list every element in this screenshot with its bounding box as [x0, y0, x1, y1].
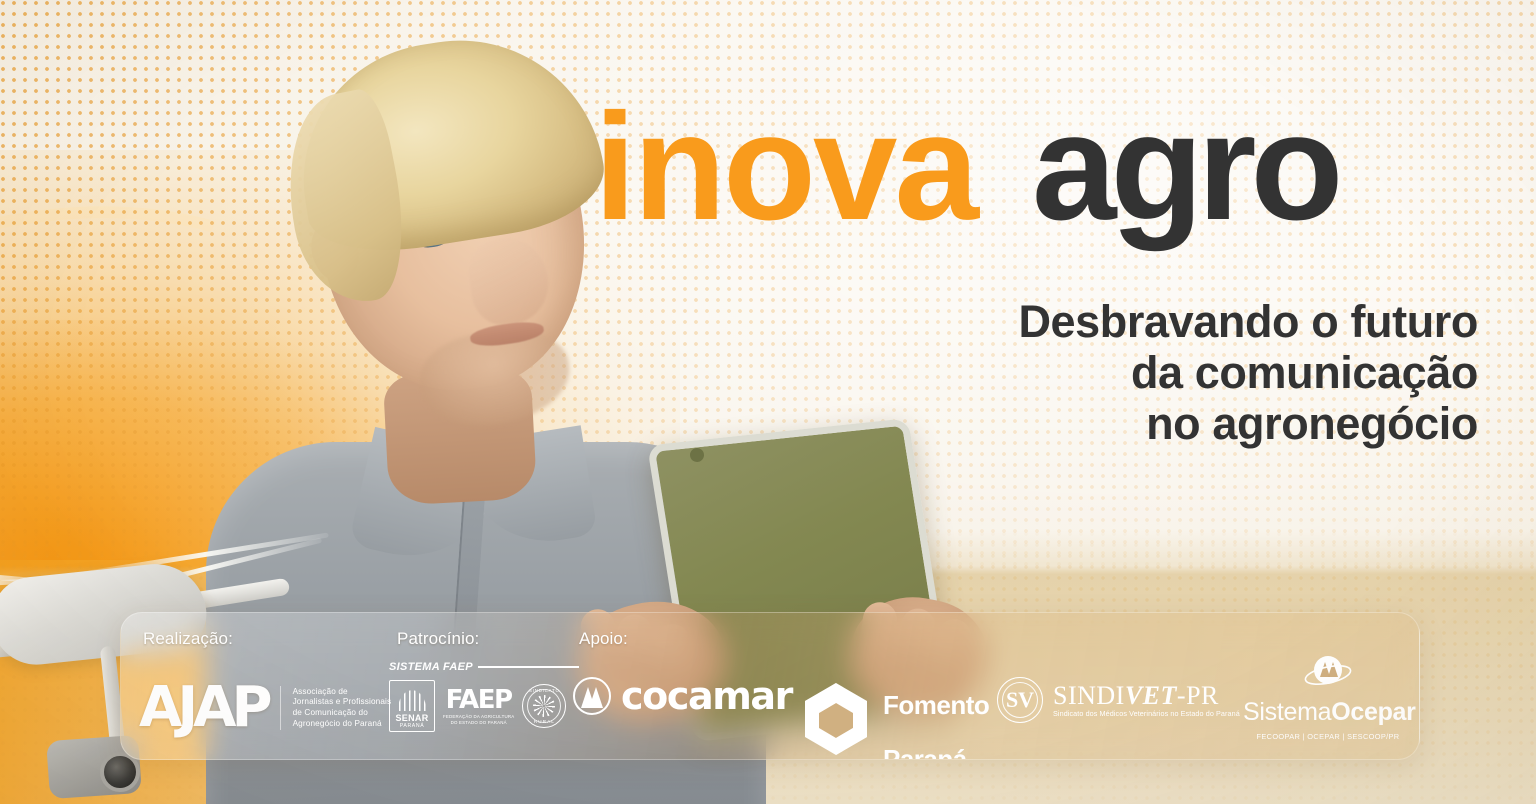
- sindicato-bottom-text: RURAL: [534, 720, 555, 725]
- senar-fan-icon: [394, 685, 430, 711]
- tagline-line-3: no agronegócio: [778, 398, 1478, 449]
- sindivet-subtitle: Sindicato dos Médicos Veterinários no Es…: [1053, 709, 1240, 718]
- faep-wordmark: FAEP: [446, 687, 512, 713]
- faep-title-row: SISTEMA FAEP: [389, 661, 579, 673]
- ajap-wordmark: AJAP: [139, 680, 268, 736]
- sindicato-top-text: SINDICATO: [529, 688, 560, 693]
- sindivet-seal-icon: SV: [997, 677, 1043, 723]
- sindivet-part-3: -PR: [1177, 681, 1219, 710]
- event-logotype: inovaagro: [594, 92, 1494, 242]
- ocepar-symbol-icon: [1304, 680, 1352, 697]
- faep-logo-row: SENAR PARANÁ FAEP FEDERAÇÃO DA AGRICULTU…: [389, 680, 579, 732]
- label-patrocinio: Patrocínio:: [397, 629, 479, 649]
- fomento-line-1: Fomento: [883, 690, 989, 720]
- ocepar-wordmark: SistemaOcepar: [1243, 698, 1416, 726]
- logo-sistema-ocepar[interactable]: SistemaOcepar FECOOPAR | OCEPAR | SESCOO…: [1243, 653, 1413, 744]
- sindicato-star-icon: [533, 695, 555, 717]
- cocamar-symbol-icon: [573, 677, 611, 715]
- logo-sindicato-rural: SINDICATO RURAL: [522, 684, 566, 728]
- senar-name: SENAR: [395, 713, 428, 723]
- fomento-wordmark: Fomento Paraná: [883, 665, 989, 760]
- event-tagline: Desbravando o futuro da comunicação no a…: [778, 296, 1478, 449]
- label-apoio: Apoio:: [579, 629, 628, 649]
- faep-subtitle: FEDERAÇÃO DA AGRICULTURA DO ESTADO DO PA…: [443, 714, 514, 725]
- logotype-agro: agro: [1032, 82, 1337, 252]
- sindivet-part-1: SINDI: [1053, 681, 1125, 710]
- sindivet-seal-letters: SV: [1006, 687, 1034, 713]
- logo-faep: FAEP FEDERAÇÃO DA AGRICULTURA DO ESTADO …: [443, 687, 514, 725]
- tagline-line-1: Desbravando o futuro: [778, 296, 1478, 347]
- faep-title-text: SISTEMA FAEP: [389, 661, 473, 673]
- sindivet-part-2: VET: [1125, 681, 1177, 710]
- ocepar-name-bold: Ocepar: [1331, 698, 1415, 726]
- sindivet-wordmark: SINDIVET-PR: [1053, 682, 1240, 709]
- ocepar-subtitle: FECOOPAR | OCEPAR | SESCOOP/PR: [1256, 732, 1399, 741]
- senar-subtitle: PARANÁ: [400, 723, 425, 729]
- cocamar-wordmark: cocamar: [621, 677, 792, 715]
- logo-senar: SENAR PARANÁ: [389, 680, 435, 732]
- logo-sistema-faep[interactable]: SISTEMA FAEP SENAR PARANÁ FAEP FEDERAÇÃO…: [389, 661, 579, 747]
- sponsors-footer-bar: Realização: Patrocínio: Apoio: AJAP Asso…: [120, 612, 1420, 760]
- sindivet-text-block: SINDIVET-PR Sindicato dos Médicos Veteri…: [1053, 682, 1240, 718]
- logo-sindivet-pr[interactable]: SV SINDIVET-PR Sindicato dos Médicos Vet…: [997, 677, 1240, 723]
- fomento-line-2: Paraná: [883, 744, 967, 760]
- banner-stage: inovaagro Desbravando o futuro da comuni…: [0, 0, 1536, 804]
- tagline-line-2: da comunicação: [778, 347, 1478, 398]
- ajap-divider: [280, 686, 281, 730]
- fomento-hexagon-icon: [801, 681, 871, 757]
- logo-cocamar[interactable]: cocamar: [573, 677, 792, 715]
- logotype-inova: inova: [594, 82, 976, 252]
- logo-fomento-parana[interactable]: Fomento Paraná: [801, 665, 989, 760]
- ocepar-name-light: Sistema: [1243, 698, 1331, 726]
- drone-leg: [0, 646, 1, 771]
- faep-title-rule: [478, 666, 579, 668]
- label-realizacao: Realização:: [143, 629, 233, 649]
- ajap-description: Associação de Jornalistas e Profissionai…: [293, 687, 392, 729]
